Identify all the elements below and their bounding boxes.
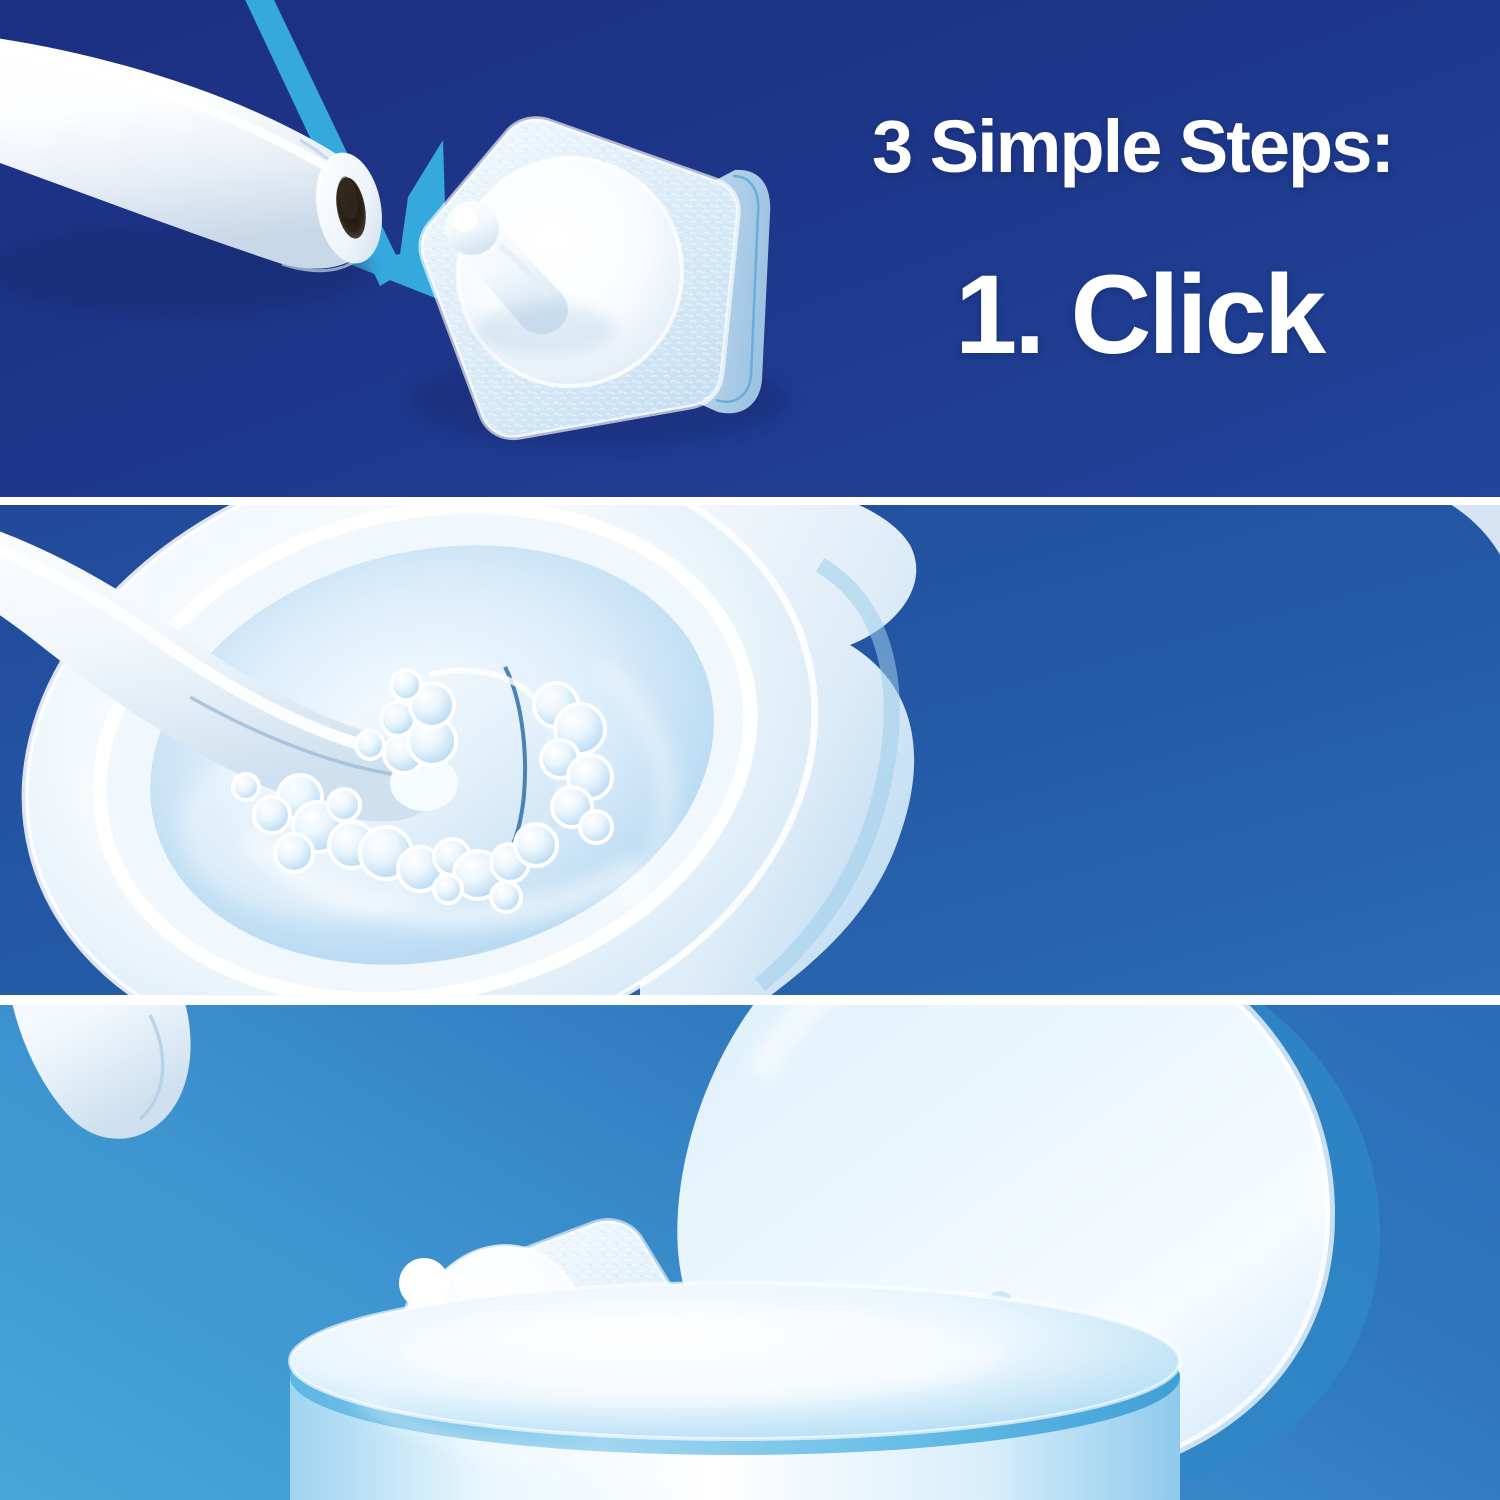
panel-divider-2 <box>0 995 1500 1003</box>
hexagonal-cleaning-pad <box>421 119 770 438</box>
step-panel-click: 3 Simple Steps: 1. Click <box>0 0 1500 497</box>
panel-divider-1 <box>0 497 1500 505</box>
three-simple-steps-graphic: 3 Simple Steps: 1. Click <box>0 0 1500 1500</box>
trash-can <box>290 1283 1180 1500</box>
step-label-click: 1. Click <box>955 250 1323 379</box>
step-panel-toss: 3. Toss <box>0 1005 1500 1500</box>
cleaning-wand-handle <box>5 1005 191 1139</box>
step-panel-swish: 2. Swish <box>0 505 1500 995</box>
toss-scene-art <box>0 1005 1500 1500</box>
headline-3-simple-steps: 3 Simple Steps: <box>872 104 1393 189</box>
click-scene-art <box>0 0 1500 497</box>
swish-scene-art <box>0 505 1500 995</box>
